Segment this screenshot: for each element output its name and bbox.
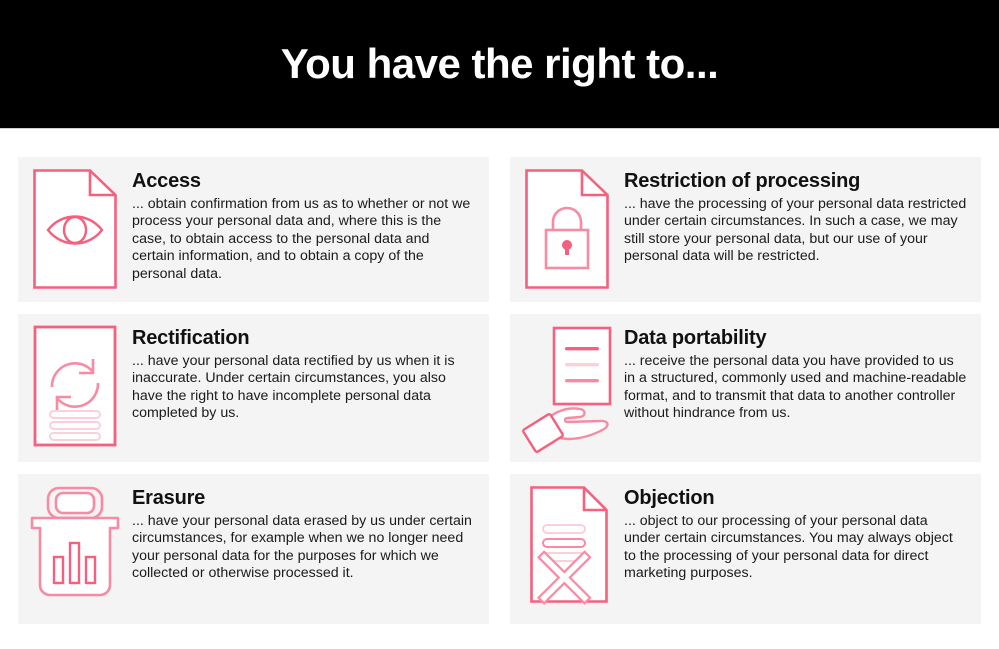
card-restriction-of-processing[interactable]: Restriction of processing ... have the p… <box>510 157 981 302</box>
card-data-portability[interactable]: Data portability ... receive the persona… <box>510 314 981 462</box>
card-icon-wrap <box>18 157 132 290</box>
card-text: ... receive the personal data you have p… <box>624 353 967 423</box>
card-body: Rectification ... have your personal dat… <box>132 314 489 423</box>
card-icon-wrap <box>510 157 624 290</box>
card-icon-wrap <box>18 474 132 601</box>
card-title: Data portability <box>624 327 967 350</box>
trash-can-icon <box>28 485 122 601</box>
card-body: Erasure ... have your personal data eras… <box>132 474 489 583</box>
card-text: ... object to our processing of your per… <box>624 513 967 583</box>
rights-card-grid: Access ... obtain confirmation from us a… <box>18 157 981 624</box>
card-text: ... have your personal data erased by us… <box>132 513 475 583</box>
card-text: ... have your personal data rectified by… <box>132 353 475 423</box>
card-title: Erasure <box>132 487 475 510</box>
document-lock-icon <box>524 168 610 290</box>
card-icon-wrap <box>510 474 624 613</box>
card-body: Restriction of processing ... have the p… <box>624 157 981 266</box>
card-text: ... obtain confirmation from us as to wh… <box>132 196 475 283</box>
card-body: Data portability ... receive the persona… <box>624 314 981 423</box>
card-icon-wrap <box>510 314 624 453</box>
document-hand-icon <box>522 325 622 453</box>
card-erasure[interactable]: Erasure ... have your personal data eras… <box>18 474 489 624</box>
card-objection[interactable]: Objection ... object to our processing o… <box>510 474 981 624</box>
document-refresh-icon <box>33 325 117 447</box>
card-access[interactable]: Access ... obtain confirmation from us a… <box>18 157 489 302</box>
infographic-page: You have the right to... Access ... obta… <box>0 0 999 649</box>
card-title: Restriction of processing <box>624 170 967 193</box>
document-eye-icon <box>32 168 118 290</box>
page-header: You have the right to... <box>0 0 999 129</box>
card-title: Access <box>132 170 475 193</box>
card-rectification[interactable]: Rectification ... have your personal dat… <box>18 314 489 462</box>
document-cross-icon <box>522 485 612 613</box>
card-title: Rectification <box>132 327 475 350</box>
page-title: You have the right to... <box>281 43 719 85</box>
card-body: Access ... obtain confirmation from us a… <box>132 157 489 283</box>
card-icon-wrap <box>18 314 132 447</box>
card-text: ... have the processing of your personal… <box>624 196 967 266</box>
card-body: Objection ... object to our processing o… <box>624 474 981 583</box>
card-title: Objection <box>624 487 967 510</box>
